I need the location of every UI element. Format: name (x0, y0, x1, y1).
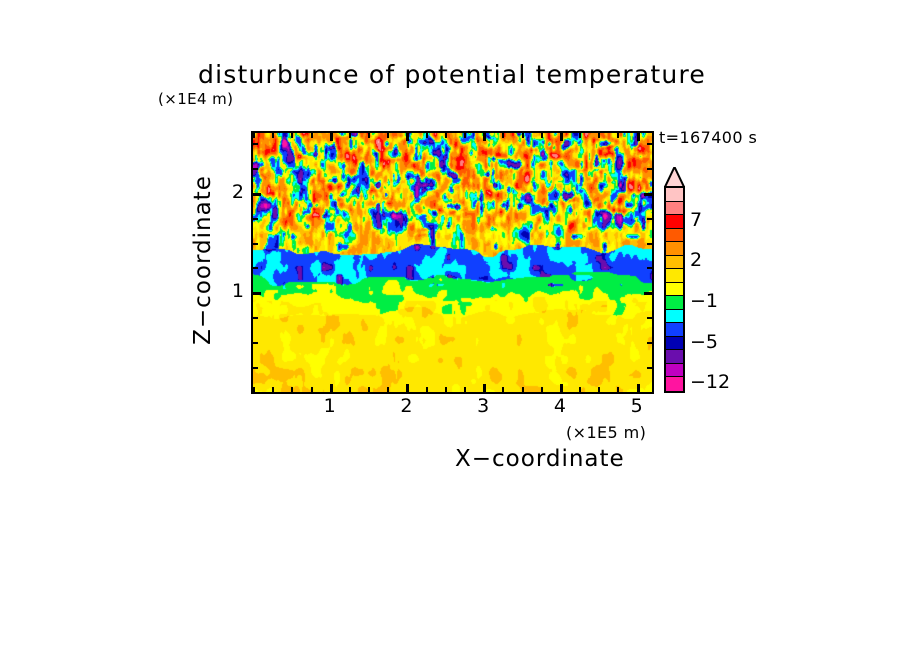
tick-mark (311, 387, 313, 392)
tick-mark (647, 342, 652, 344)
tick-mark (253, 342, 258, 344)
tick-mark (637, 384, 640, 392)
tick-mark (253, 143, 258, 145)
tick-mark (598, 387, 600, 392)
contour-plot-area (251, 131, 654, 394)
tick-mark (291, 387, 293, 392)
colorbar-band (666, 310, 683, 324)
colorbar-band (666, 269, 683, 283)
tick-mark (291, 133, 293, 138)
chart-title: disturbunce of potential temperature (0, 60, 904, 89)
colorbar-label: −12 (690, 371, 730, 393)
tick-mark (253, 367, 258, 369)
x-tick-label: 2 (391, 395, 421, 417)
tick-mark (253, 392, 258, 394)
x-axis-title: X−coordinate (0, 446, 904, 472)
colorbar (664, 186, 685, 393)
tick-mark (406, 384, 409, 392)
tick-mark (541, 133, 543, 138)
colorbar-label: −5 (690, 331, 718, 353)
tick-mark (349, 387, 351, 392)
tick-mark (502, 387, 504, 392)
tick-mark (253, 267, 258, 269)
tick-mark (560, 133, 563, 141)
tick-mark (445, 133, 447, 138)
tick-mark (311, 133, 313, 138)
x-tick-label: 4 (545, 395, 575, 417)
tick-mark (637, 133, 640, 141)
tick-mark (387, 387, 389, 392)
tick-mark (368, 133, 370, 138)
tick-mark (522, 387, 524, 392)
tick-mark (253, 133, 255, 138)
tick-mark (464, 133, 466, 138)
tick-mark (647, 367, 652, 369)
tick-mark (560, 384, 563, 392)
colorbar-band (666, 350, 683, 364)
timestamp-label: t=167400 s (659, 128, 757, 147)
tick-mark (464, 387, 466, 392)
colorbar-band (666, 242, 683, 256)
colorbar-band (666, 202, 683, 216)
colorbar-label: 7 (690, 209, 702, 231)
tick-mark (647, 317, 652, 319)
x-tick-label: 1 (315, 395, 345, 417)
tick-mark (647, 218, 652, 220)
colorbar-label: 2 (690, 249, 702, 271)
tick-mark (579, 387, 581, 392)
tick-mark (644, 292, 652, 295)
tick-mark (647, 392, 652, 394)
tick-mark (253, 218, 258, 220)
tick-mark (647, 267, 652, 269)
temperature-field-heatmap (253, 133, 652, 392)
tick-mark (253, 317, 258, 319)
colorbar-band (666, 296, 683, 310)
tick-mark (598, 133, 600, 138)
tick-mark (644, 193, 652, 196)
y-tick-label: 1 (222, 280, 244, 302)
tick-mark (541, 387, 543, 392)
colorbar-label: −1 (690, 290, 718, 312)
x-axis-units-label: (×1E5 m) (566, 423, 646, 442)
tick-mark (253, 243, 258, 245)
tick-mark (483, 133, 486, 141)
x-tick-label: 5 (622, 395, 652, 417)
colorbar-band (666, 377, 683, 391)
tick-mark (349, 133, 351, 138)
tick-mark (502, 133, 504, 138)
colorbar-band (666, 337, 683, 351)
tick-mark (617, 133, 619, 138)
colorbar-band (666, 188, 683, 202)
tick-mark (406, 133, 409, 141)
y-tick-label: 2 (222, 181, 244, 203)
tick-mark (272, 387, 274, 392)
tick-mark (253, 168, 258, 170)
x-tick-label: 3 (468, 395, 498, 417)
tick-mark (330, 133, 333, 141)
colorbar-band (666, 256, 683, 270)
tick-mark (483, 384, 486, 392)
tick-mark (387, 133, 389, 138)
tick-mark (330, 384, 333, 392)
tick-mark (445, 387, 447, 392)
tick-mark (368, 387, 370, 392)
tick-mark (426, 387, 428, 392)
tick-mark (253, 292, 261, 295)
tick-mark (272, 133, 274, 138)
tick-mark (617, 387, 619, 392)
colorbar-band (666, 323, 683, 337)
colorbar-band (666, 364, 683, 378)
y-axis-units-label: (×1E4 m) (158, 90, 233, 108)
tick-mark (426, 133, 428, 138)
tick-mark (579, 133, 581, 138)
tick-mark (253, 193, 261, 196)
tick-mark (647, 143, 652, 145)
colorbar-band (666, 229, 683, 243)
tick-mark (522, 133, 524, 138)
colorbar-band (666, 283, 683, 297)
tick-mark (647, 243, 652, 245)
colorbar-band (666, 215, 683, 229)
tick-mark (647, 168, 652, 170)
